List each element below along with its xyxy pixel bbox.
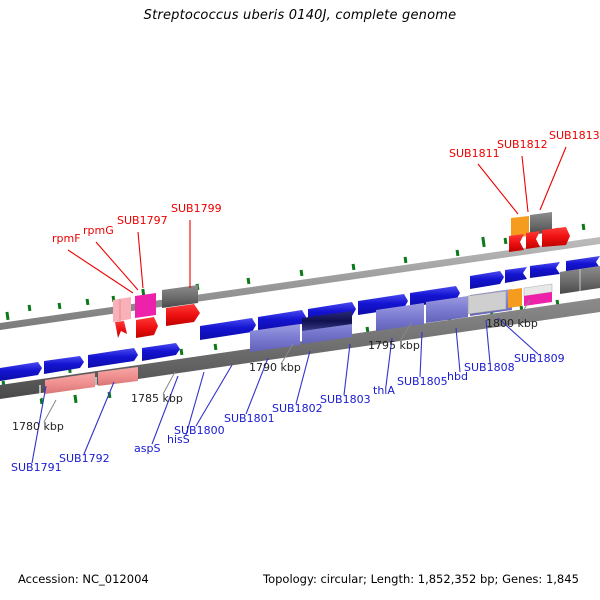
gene-label-rpmf[interactable]: rpmF bbox=[52, 232, 81, 245]
feature-pink-box[interactable] bbox=[113, 297, 131, 322]
gene-label-sub1802[interactable]: SUB1802 bbox=[272, 402, 323, 415]
gene-box[interactable] bbox=[142, 343, 180, 361]
scale-label: 1780 kbp bbox=[12, 420, 64, 433]
genome-map-viewer: Streptococcus uberis 0140J, complete gen… bbox=[0, 0, 600, 600]
backbone-segment-salmon-2[interactable] bbox=[98, 367, 138, 386]
feature-magenta-box[interactable] bbox=[135, 293, 156, 318]
gene-label-asps[interactable]: aspS bbox=[134, 442, 160, 455]
gene-box[interactable] bbox=[0, 362, 42, 381]
feature-red-arrow[interactable] bbox=[166, 304, 200, 326]
gene-box-reverse-arrow[interactable] bbox=[505, 267, 527, 283]
genome-map-canvas[interactable]: rpmFrpmGSUB1797SUB1799SUB1811SUB1812SUB1… bbox=[0, 0, 600, 600]
gene-label-rpmg[interactable]: rpmG bbox=[83, 224, 114, 237]
gene-box[interactable] bbox=[470, 271, 504, 289]
feature-cluster-left[interactable] bbox=[113, 285, 200, 338]
feature-red-arrow[interactable] bbox=[115, 321, 127, 338]
scale-label: 1800 kbp bbox=[486, 317, 538, 330]
gene-label-sub1791[interactable]: SUB1791 bbox=[11, 461, 62, 474]
scale-label: 1790 kbp bbox=[249, 361, 301, 374]
feature-red-arrow[interactable] bbox=[136, 317, 158, 338]
gene-label-sub1805[interactable]: SUB1805 bbox=[397, 375, 448, 388]
accession-text: Accession: NC_012004 bbox=[18, 572, 149, 586]
feature-red-arrow[interactable] bbox=[542, 227, 570, 247]
gene-label-sub1803[interactable]: SUB1803 bbox=[320, 393, 371, 406]
gene-box[interactable] bbox=[88, 348, 138, 368]
gene-label-sub1801[interactable]: SUB1801 bbox=[224, 412, 275, 425]
gene-label-sub1813[interactable]: SUB1813 bbox=[549, 129, 600, 142]
scale-label: 1795 kbp bbox=[368, 339, 420, 352]
gene-label-sub1812[interactable]: SUB1812 bbox=[497, 138, 548, 151]
gene-label-sub1792[interactable]: SUB1792 bbox=[59, 452, 110, 465]
gene-label-sub1811[interactable]: SUB1811 bbox=[449, 147, 500, 160]
gene-label-sub1800[interactable]: SUB1800 bbox=[174, 424, 225, 437]
feature-orange-box[interactable] bbox=[508, 288, 522, 308]
feature-red-arrow[interactable] bbox=[509, 234, 524, 252]
gene-label-sub1799[interactable]: SUB1799 bbox=[171, 202, 222, 215]
gene-label-sub1808[interactable]: SUB1808 bbox=[464, 361, 515, 374]
gene-label-thla[interactable]: thlA bbox=[373, 384, 395, 397]
gene-box[interactable] bbox=[44, 356, 84, 374]
scale-label: 1785 kbp bbox=[131, 392, 183, 405]
gene-box[interactable] bbox=[200, 318, 256, 340]
gene-box-reverse-arrow[interactable] bbox=[530, 262, 560, 278]
gene-label-sub1809[interactable]: SUB1809 bbox=[514, 352, 565, 365]
feature-red-arrow[interactable] bbox=[526, 231, 540, 249]
genome-summary-text: Topology: circular; Length: 1,852,352 bp… bbox=[263, 572, 579, 586]
gene-label-sub1797[interactable]: SUB1797 bbox=[117, 214, 168, 227]
